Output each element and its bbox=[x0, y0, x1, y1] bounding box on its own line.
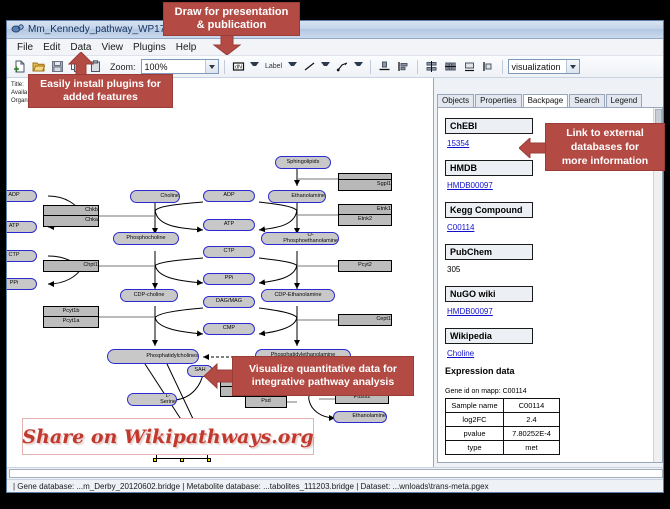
callout-draw-line1: Draw for presentation bbox=[175, 6, 289, 19]
metabolite-node-cdp-choline[interactable]: CDP-choline bbox=[120, 289, 178, 302]
kegg-heading: Kegg Compound bbox=[445, 202, 533, 218]
svg-text:dN: dN bbox=[235, 65, 242, 71]
callout-link-line2: databases for bbox=[571, 140, 639, 154]
metabolite-node[interactable]: ADP bbox=[203, 190, 255, 202]
gene-node-etnk1[interactable]: Etnk1 bbox=[338, 204, 392, 215]
wikipedia-section: Wikipedia Choline bbox=[445, 326, 650, 358]
chevron-down-icon[interactable] bbox=[288, 62, 297, 71]
status-bar: | Gene database: ...m_Derby_20120602.bri… bbox=[7, 479, 663, 493]
menu-item-view[interactable]: View bbox=[96, 41, 128, 54]
visualization-combo[interactable]: visualization bbox=[508, 59, 580, 74]
metabolite-node[interactable]: ATP bbox=[203, 219, 255, 231]
selection-handle[interactable] bbox=[207, 458, 211, 462]
gene-node-pcyt2[interactable]: Pcyt2 bbox=[338, 260, 392, 272]
metabolite-node-ethanolamine[interactable]: Ethanolamine bbox=[268, 190, 326, 203]
interaction-dropdown[interactable] bbox=[353, 59, 365, 74]
gene-node-pcyt1b[interactable]: Pcyt1b bbox=[43, 306, 99, 317]
callout-share-wikipathways: Share on Wikipathways.org bbox=[22, 418, 314, 455]
table-cell-value: 7.80252E-4 bbox=[504, 427, 560, 441]
metabolite-node-l-serine-left[interactable]: L-Serine bbox=[127, 393, 177, 406]
metabolite-node-phosphocholine[interactable]: Phosphocholine bbox=[113, 232, 179, 245]
metabolite-node[interactable]: CTP bbox=[7, 250, 37, 262]
bottom-well bbox=[9, 469, 663, 478]
table-cell-key: log2FC bbox=[446, 413, 504, 427]
callout-draw-line2: & publication bbox=[197, 19, 267, 32]
callout-plugins-arrow-icon bbox=[68, 52, 94, 76]
tab-search[interactable]: Search bbox=[569, 94, 604, 107]
metabolite-node-ethanolamine-right[interactable]: Ethanolamine bbox=[333, 411, 387, 423]
gene-node-cept1[interactable]: Cept1 bbox=[338, 314, 392, 326]
menu-bar: File Edit Data View Plugins Help bbox=[7, 39, 663, 56]
open-folder-icon[interactable] bbox=[30, 58, 47, 75]
nugo-link[interactable]: HMDB00097 bbox=[447, 307, 650, 316]
datanode-icon[interactable]: dN bbox=[230, 58, 247, 75]
share-text: Share on Wikipathways.org bbox=[22, 426, 313, 448]
bottom-strip bbox=[7, 467, 663, 479]
gene-node-sgpl1-bar[interactable] bbox=[338, 173, 392, 180]
wikipedia-link[interactable]: Choline bbox=[447, 349, 650, 358]
metabolite-node-sphingolipids[interactable]: Sphingolipids bbox=[275, 156, 331, 169]
menu-item-edit[interactable]: Edit bbox=[38, 41, 65, 54]
tab-properties[interactable]: Properties bbox=[475, 94, 521, 107]
gene-node-sgpl1[interactable]: Sgpl1 bbox=[338, 180, 392, 191]
label-dropdown[interactable] bbox=[287, 59, 299, 74]
selection-handle[interactable] bbox=[180, 458, 184, 462]
pathvisio-app-icon bbox=[11, 23, 24, 36]
menu-item-plugins[interactable]: Plugins bbox=[128, 41, 171, 54]
status-text: | Gene database: ...m_Derby_20120602.bri… bbox=[7, 482, 489, 491]
callout-plugins-line1: Easily install plugins for bbox=[40, 78, 161, 91]
chevron-down-icon[interactable] bbox=[250, 62, 259, 71]
nugo-section: NuGO wiki HMDB00097 bbox=[445, 284, 650, 316]
align-right-icon[interactable] bbox=[480, 58, 497, 75]
table-cell-key: type bbox=[446, 441, 504, 455]
table-row: type met bbox=[446, 441, 560, 455]
gene-node-etnk2[interactable]: Etnk2 bbox=[338, 215, 392, 226]
chevron-down-icon[interactable] bbox=[566, 60, 579, 73]
screenshot-root: Mm_Kennedy_pathway_WP1771_45176.gpml Fil… bbox=[0, 0, 670, 509]
callout-link-line1: Link to external bbox=[566, 126, 644, 140]
table-cell-value: met bbox=[504, 441, 560, 455]
toolbar-separator bbox=[502, 60, 503, 74]
table-cell-key: pvalue bbox=[446, 427, 504, 441]
chevron-down-icon[interactable] bbox=[321, 62, 330, 71]
nugo-heading: NuGO wiki bbox=[445, 286, 533, 302]
metabolite-node[interactable]: ATP bbox=[7, 221, 37, 233]
pathway-canvas[interactable]: Title: Availa Organ bbox=[7, 78, 434, 467]
callout-draw-for-publication: Draw for presentation & publication bbox=[163, 2, 300, 36]
metabolite-node[interactable]: PPi bbox=[203, 273, 255, 285]
toolbar-separator bbox=[417, 60, 418, 74]
pubchem-value: 305 bbox=[447, 265, 650, 274]
metabolite-node[interactable]: DAG/MAG bbox=[203, 296, 255, 308]
table-row: pvalue 7.80252E-4 bbox=[446, 427, 560, 441]
stack-vertical-icon[interactable] bbox=[423, 58, 440, 75]
metabolite-node-o-phosphoethanolamine[interactable]: O-Phosphoethanolamine bbox=[261, 232, 339, 245]
metabolite-node[interactable]: ADP bbox=[7, 190, 37, 202]
table-row: Sample name C00114 bbox=[446, 399, 560, 413]
callout-link-line3: more information bbox=[562, 154, 648, 168]
menu-item-help[interactable]: Help bbox=[171, 41, 202, 54]
kegg-section: Kegg Compound C00114 bbox=[445, 200, 650, 232]
line-dropdown[interactable] bbox=[320, 59, 332, 74]
gene-node-pcyt1a[interactable]: Pcyt1a bbox=[43, 317, 99, 328]
kegg-link[interactable]: C00114 bbox=[447, 223, 650, 232]
metabolite-node[interactable]: CMP bbox=[203, 323, 255, 335]
metabolite-node[interactable]: PPi bbox=[7, 278, 37, 290]
table-row: log2FC 2.4 bbox=[446, 413, 560, 427]
visualization-value: visualization bbox=[512, 62, 561, 72]
zoom-value: 100% bbox=[145, 62, 168, 72]
line-icon[interactable] bbox=[301, 58, 318, 75]
table-cell-value: C00114 bbox=[504, 399, 560, 413]
distribute-horizontal-icon[interactable] bbox=[442, 58, 459, 75]
callout-install-plugins: Easily install plugins for added feature… bbox=[28, 74, 173, 108]
hmdb-link[interactable]: HMDB00097 bbox=[447, 181, 650, 190]
tab-objects[interactable]: Objects bbox=[437, 94, 474, 107]
menu-item-file[interactable]: File bbox=[12, 41, 38, 54]
callout-visualize-line1: Visualize quantitative data for bbox=[249, 363, 397, 376]
chebi-heading: ChEBI bbox=[445, 118, 533, 134]
expression-data-heading: Expression data bbox=[445, 366, 650, 376]
callout-visualize-data: Visualize quantitative data for integrat… bbox=[232, 356, 414, 396]
gene-node-psd[interactable]: Psd bbox=[245, 396, 287, 408]
pubchem-heading: PubChem bbox=[445, 244, 533, 260]
gene-id-line: Gene id on mapp: C00114 bbox=[445, 388, 650, 395]
tab-legend[interactable]: Legend bbox=[606, 94, 643, 107]
toolbar-separator bbox=[224, 60, 225, 74]
metabolite-node[interactable]: CTP bbox=[203, 246, 255, 258]
table-cell-key: Sample name bbox=[446, 399, 504, 413]
gene-node-chkb[interactable]: Chkb bbox=[43, 205, 99, 216]
callout-external-links: Link to external databases for more info… bbox=[545, 123, 665, 171]
pubchem-section: PubChem 305 bbox=[445, 242, 650, 274]
toolbar-separator bbox=[370, 60, 371, 74]
chevron-down-icon[interactable] bbox=[354, 62, 363, 71]
metabolite-node-choline[interactable]: Choline bbox=[130, 190, 180, 203]
callout-visualize-line2: integrative pathway analysis bbox=[252, 376, 394, 389]
new-file-icon[interactable] bbox=[11, 58, 28, 75]
selection-handle[interactable] bbox=[153, 458, 157, 462]
callout-plugins-line2: added features bbox=[63, 91, 138, 104]
chevron-down-icon[interactable] bbox=[205, 60, 218, 73]
label-button[interactable]: Label bbox=[263, 58, 285, 75]
table-cell-value: 2.4 bbox=[504, 413, 560, 427]
hmdb-heading: HMDB bbox=[445, 160, 533, 176]
metabolite-node-phosphatidylcholines[interactable]: Phosphatidylcholines bbox=[107, 349, 199, 364]
align-left-icon[interactable] bbox=[395, 58, 412, 75]
expression-table: Sample name C00114 log2FC 2.4 pvalue 7.8… bbox=[445, 398, 560, 455]
title-bar: Mm_Kennedy_pathway_WP1771_45176.gpml bbox=[7, 21, 663, 39]
metabolite-node-cdp-ethanolamine[interactable]: CDP-Ethanolamine bbox=[261, 289, 335, 302]
gene-node-chpt1[interactable]: Chpt1 bbox=[43, 260, 99, 272]
zoom-label: Zoom: bbox=[110, 62, 136, 72]
align-center-icon[interactable] bbox=[461, 58, 478, 75]
gene-node-chka[interactable]: Chka bbox=[43, 216, 99, 227]
interaction-icon[interactable] bbox=[334, 58, 351, 75]
side-panel-tabs: Objects Properties Backpage Search Legen… bbox=[437, 94, 663, 108]
wikipedia-heading: Wikipedia bbox=[445, 328, 533, 344]
zoom-combo[interactable]: 100% bbox=[141, 59, 219, 74]
align-bottom-icon[interactable] bbox=[376, 58, 393, 75]
tab-backpage[interactable]: Backpage bbox=[523, 94, 569, 107]
callout-draw-arrow-icon bbox=[212, 35, 242, 55]
save-icon[interactable] bbox=[49, 58, 66, 75]
datanode-dropdown[interactable] bbox=[249, 59, 261, 74]
callout-link-arrow-icon bbox=[519, 138, 547, 158]
